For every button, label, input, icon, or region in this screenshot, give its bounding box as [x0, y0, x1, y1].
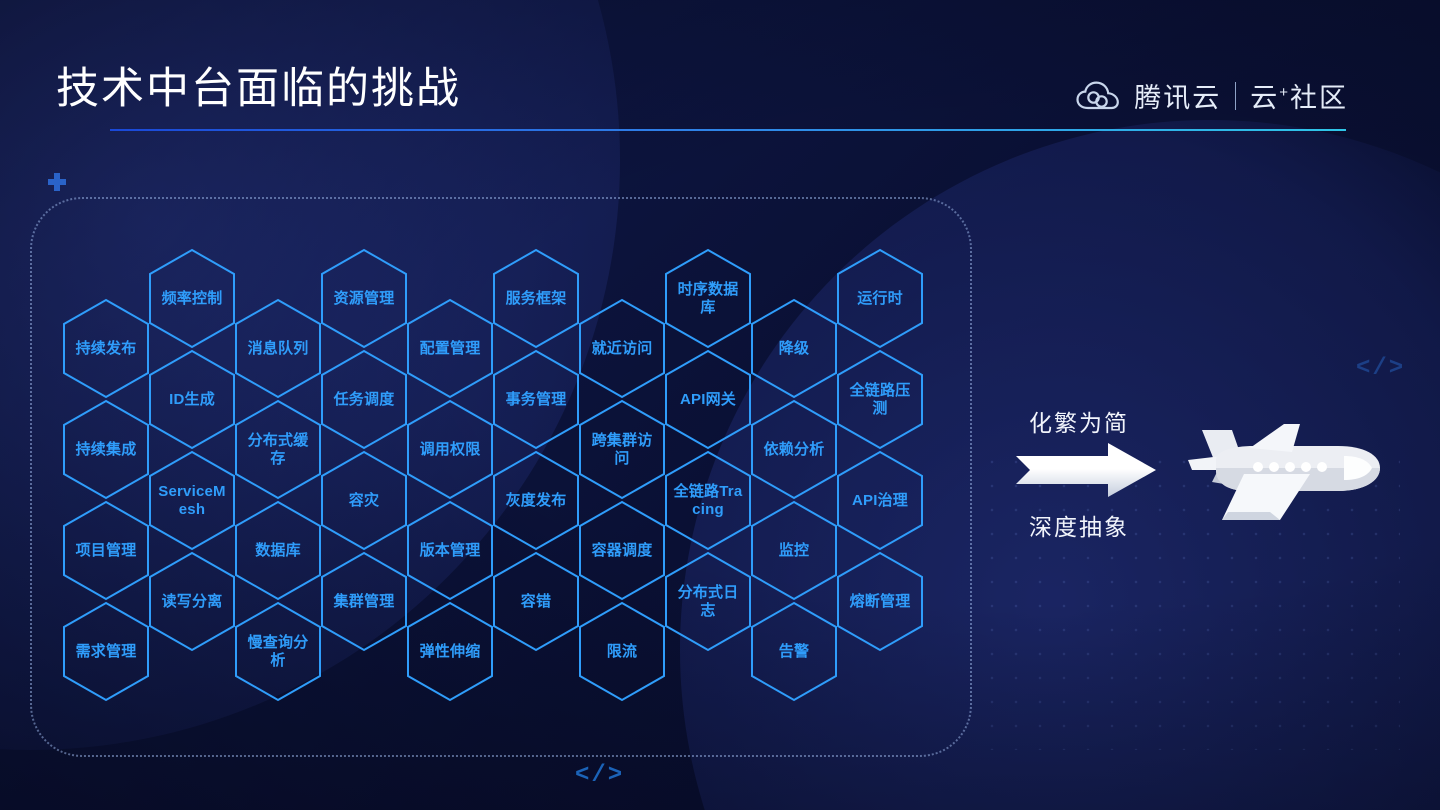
hex-cell-label: 限流: [598, 643, 646, 661]
hex-cell-label: 灰度发布: [497, 492, 576, 510]
hex-cell[interactable]: 分布式缓存: [234, 399, 322, 500]
hex-cell-label: 容器调度: [583, 542, 662, 560]
hex-cell-label: 熔断管理: [841, 593, 920, 611]
hex-cell[interactable]: 消息队列: [234, 298, 322, 399]
hex-cell-label: 全链路Tracing: [664, 483, 752, 518]
brand-name-label: 腾讯云: [1134, 76, 1221, 115]
hex-cell[interactable]: 事务管理: [492, 349, 580, 450]
brand-sub-plus: +: [1279, 84, 1290, 101]
hex-cell[interactable]: 限流: [578, 601, 666, 702]
hex-cell-label: 集群管理: [325, 593, 404, 611]
brand-sub-tail: 社区: [1290, 83, 1348, 113]
hex-cell-label: 依赖分析: [755, 441, 834, 459]
hex-cell-label: 分布式日志: [664, 584, 752, 619]
hex-cell[interactable]: 调用权限: [406, 399, 494, 500]
hex-cell[interactable]: 服务框架: [492, 248, 580, 349]
hex-cell[interactable]: 容灾: [320, 450, 408, 551]
hex-cell-label: 容错: [512, 593, 560, 611]
hex-cell[interactable]: 就近访问: [578, 298, 666, 399]
hex-cell[interactable]: 全链路Tracing: [664, 450, 752, 551]
hex-cell-label: 调用权限: [411, 441, 490, 459]
hex-cell-label: 持续发布: [67, 340, 146, 358]
hex-cell[interactable]: 分布式日志: [664, 551, 752, 652]
hex-cell-label: 分布式缓存: [234, 432, 322, 467]
hex-cell[interactable]: ID生成: [148, 349, 236, 450]
brand-logo: 腾讯云 云+社区: [1076, 76, 1348, 115]
hex-cell-label: 配置管理: [411, 340, 490, 358]
hex-cell[interactable]: 依赖分析: [750, 399, 838, 500]
hex-cell[interactable]: 容错: [492, 551, 580, 652]
hex-cell-label: 读写分离: [153, 593, 232, 611]
hex-cell[interactable]: 弹性伸缩: [406, 601, 494, 702]
conversion-top-label: 化繁为简: [1029, 404, 1129, 438]
hex-cell[interactable]: 版本管理: [406, 500, 494, 601]
hex-cell[interactable]: 全链路压测: [836, 349, 924, 450]
hex-cell-label: 版本管理: [411, 542, 490, 560]
hex-cell-label: 服务框架: [497, 290, 576, 308]
hex-cell-label: 慢查询分析: [234, 634, 322, 669]
hex-cell[interactable]: 数据库: [234, 500, 322, 601]
airplane-icon: [1188, 408, 1388, 533]
code-brackets-right-icon: </>: [1356, 355, 1405, 382]
hex-cell[interactable]: 任务调度: [320, 349, 408, 450]
hex-cell[interactable]: 时序数据库: [664, 248, 752, 349]
hex-cell[interactable]: 监控: [750, 500, 838, 601]
hex-cell[interactable]: 跨集群访问: [578, 399, 666, 500]
hex-cell-label: API网关: [671, 391, 745, 409]
hex-cell-label: ServiceMesh: [148, 483, 236, 518]
hex-cell[interactable]: 项目管理: [62, 500, 150, 601]
hex-cell-label: 任务调度: [325, 391, 404, 409]
hex-cell[interactable]: 配置管理: [406, 298, 494, 399]
brand-separator: [1235, 82, 1236, 110]
hex-cell[interactable]: 运行时: [836, 248, 924, 349]
hex-cell[interactable]: 集群管理: [320, 551, 408, 652]
hex-cell-label: 频率控制: [153, 290, 232, 308]
hex-cell-label: 事务管理: [497, 391, 576, 409]
hex-cell[interactable]: API网关: [664, 349, 752, 450]
hex-cell-label: 就近访问: [583, 340, 662, 358]
hex-cell[interactable]: 资源管理: [320, 248, 408, 349]
hex-cell-label: 跨集群访问: [578, 432, 666, 467]
hex-cell[interactable]: 读写分离: [148, 551, 236, 652]
hex-cell[interactable]: 持续集成: [62, 399, 150, 500]
hex-cell-label: 全链路压测: [836, 382, 924, 417]
hex-cell-label: 消息队列: [239, 340, 318, 358]
right-arrow-icon: [1016, 443, 1156, 497]
hex-cell-label: 降级: [770, 340, 818, 358]
hex-cell[interactable]: 灰度发布: [492, 450, 580, 551]
hex-cell-label: 时序数据库: [664, 281, 752, 316]
hex-cell[interactable]: 降级: [750, 298, 838, 399]
hex-cell-label: 告警: [770, 643, 818, 661]
hex-cell-label: 监控: [770, 542, 818, 560]
hex-cell[interactable]: 熔断管理: [836, 551, 924, 652]
hex-cell-label: 运行时: [848, 290, 912, 308]
hex-cell-label: 弹性伸缩: [411, 643, 490, 661]
hex-cell-label: API治理: [843, 492, 917, 510]
brand-sub-label: 云+社区: [1250, 76, 1348, 115]
conversion-bottom-label: 深度抽象: [1029, 508, 1129, 542]
tencent-cloud-logo-icon: [1076, 80, 1120, 112]
hex-cell-label: 需求管理: [67, 643, 146, 661]
hex-cell-label: 资源管理: [325, 290, 404, 308]
hex-cell[interactable]: 告警: [750, 601, 838, 702]
brand-sub-cloud: 云: [1250, 83, 1279, 113]
hex-cell[interactable]: 需求管理: [62, 601, 150, 702]
hex-cell-label: 持续集成: [67, 441, 146, 459]
hex-cell[interactable]: 慢查询分析: [234, 601, 322, 702]
hex-cell[interactable]: API治理: [836, 450, 924, 551]
hex-cell-label: 数据库: [246, 542, 310, 560]
hex-cell[interactable]: ServiceMesh: [148, 450, 236, 551]
hexagon-grid: 持续发布持续集成项目管理需求管理频率控制ID生成ServiceMesh读写分离消…: [0, 0, 1000, 810]
hex-cell[interactable]: 容器调度: [578, 500, 666, 601]
hex-cell-label: 容灾: [340, 492, 388, 510]
hex-cell[interactable]: 持续发布: [62, 298, 150, 399]
hex-cell-label: 项目管理: [67, 542, 146, 560]
slide-canvas: 技术中台面临的挑战 腾讯云 云+社区 </> </> 持续发布持续集成项目管理需…: [0, 0, 1440, 810]
hex-cell[interactable]: 频率控制: [148, 248, 236, 349]
hex-cell-label: ID生成: [160, 391, 224, 409]
